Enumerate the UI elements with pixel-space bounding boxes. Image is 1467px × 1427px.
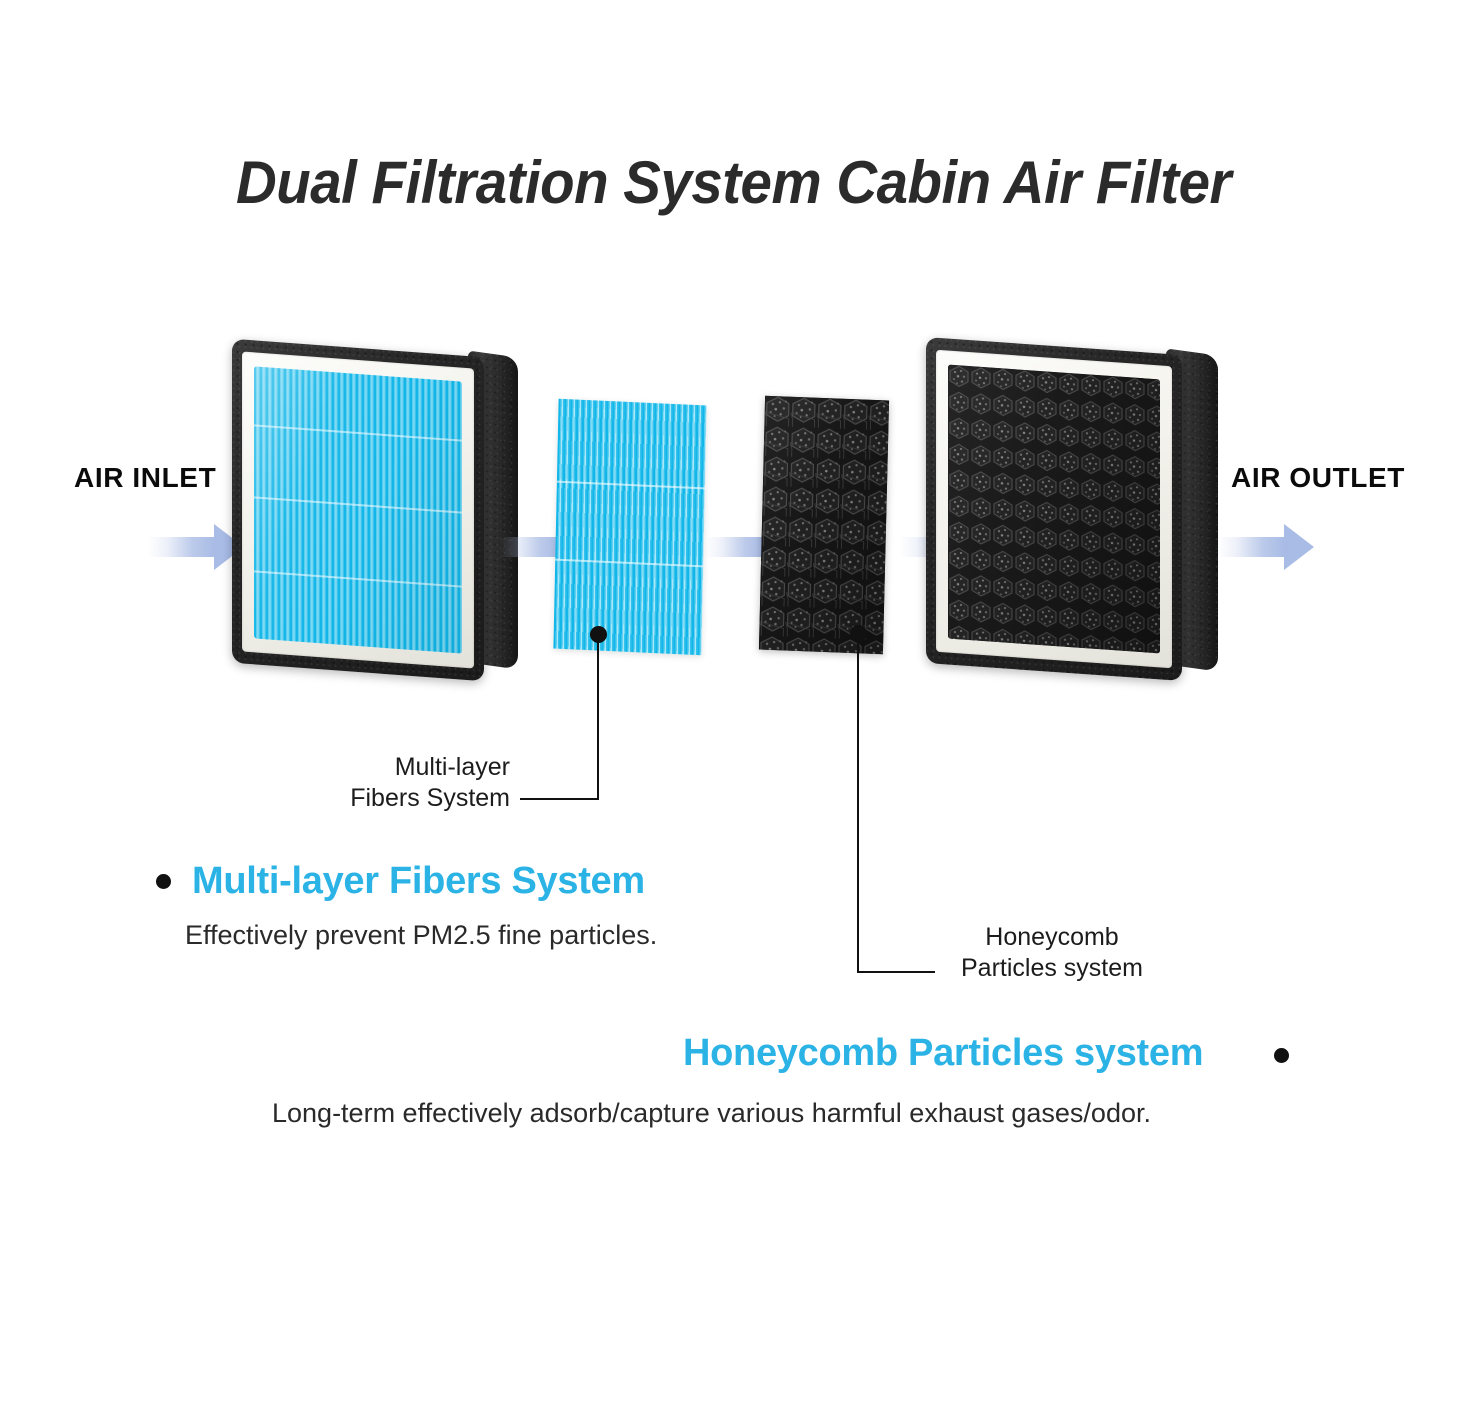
feature-body-fibers: Effectively prevent PM2.5 fine particles… [185, 920, 657, 951]
infographic-canvas: Dual Filtration System Cabin Air Filter … [0, 0, 1467, 1427]
carbon-sheet [759, 396, 889, 655]
callout-label-fibers: Multi-layer Fibers System [330, 752, 510, 814]
feature-bullet-honeycomb [1274, 1048, 1289, 1063]
fiber-media [254, 366, 462, 653]
callout-leader-vertical [857, 637, 859, 973]
callout-leader-horizontal [520, 798, 598, 800]
filter-block-fiber [228, 340, 518, 680]
filter-bezel [936, 350, 1172, 669]
arrow-shaft [148, 537, 214, 557]
air-inlet-label: AIR INLET [74, 462, 216, 494]
sheet-seam [555, 559, 703, 568]
sheet-seam [557, 481, 705, 490]
air-outlet-label: AIR OUTLET [1231, 462, 1405, 494]
filter-bezel [242, 351, 474, 668]
feature-heading-honeycomb: Honeycomb Particles system [683, 1032, 1203, 1075]
arrow-shaft [500, 537, 560, 557]
callout-line-1: Multi-layer [330, 752, 510, 783]
media-sheen [254, 366, 462, 653]
feature-bullet-fibers [156, 874, 171, 889]
callout-line-1: Honeycomb [937, 922, 1167, 953]
arrow-head [1284, 524, 1314, 570]
filter-block-carbon [922, 336, 1222, 684]
callout-leader-horizontal [857, 971, 935, 973]
callout-line-2: Particles system [937, 953, 1167, 984]
arrow-shaft [706, 537, 764, 557]
carbon-media [948, 365, 1160, 654]
page-title: Dual Filtration System Cabin Air Filter [44, 148, 1423, 217]
callout-leader-vertical [597, 638, 599, 800]
filter-frame [926, 337, 1182, 681]
media-sheen [948, 365, 1160, 654]
arrow-shaft [1218, 537, 1284, 557]
feature-heading-fibers: Multi-layer Fibers System [192, 860, 645, 903]
filter-frame [232, 339, 484, 682]
callout-label-honeycomb: Honeycomb Particles system [937, 922, 1167, 984]
fiber-sheet [553, 399, 706, 655]
feature-body-honeycomb: Long-term effectively adsorb/capture var… [272, 1098, 1151, 1129]
callout-line-2: Fibers System [330, 783, 510, 814]
flow-arrow-5 [1218, 524, 1314, 570]
sheet-sheen [759, 396, 889, 655]
